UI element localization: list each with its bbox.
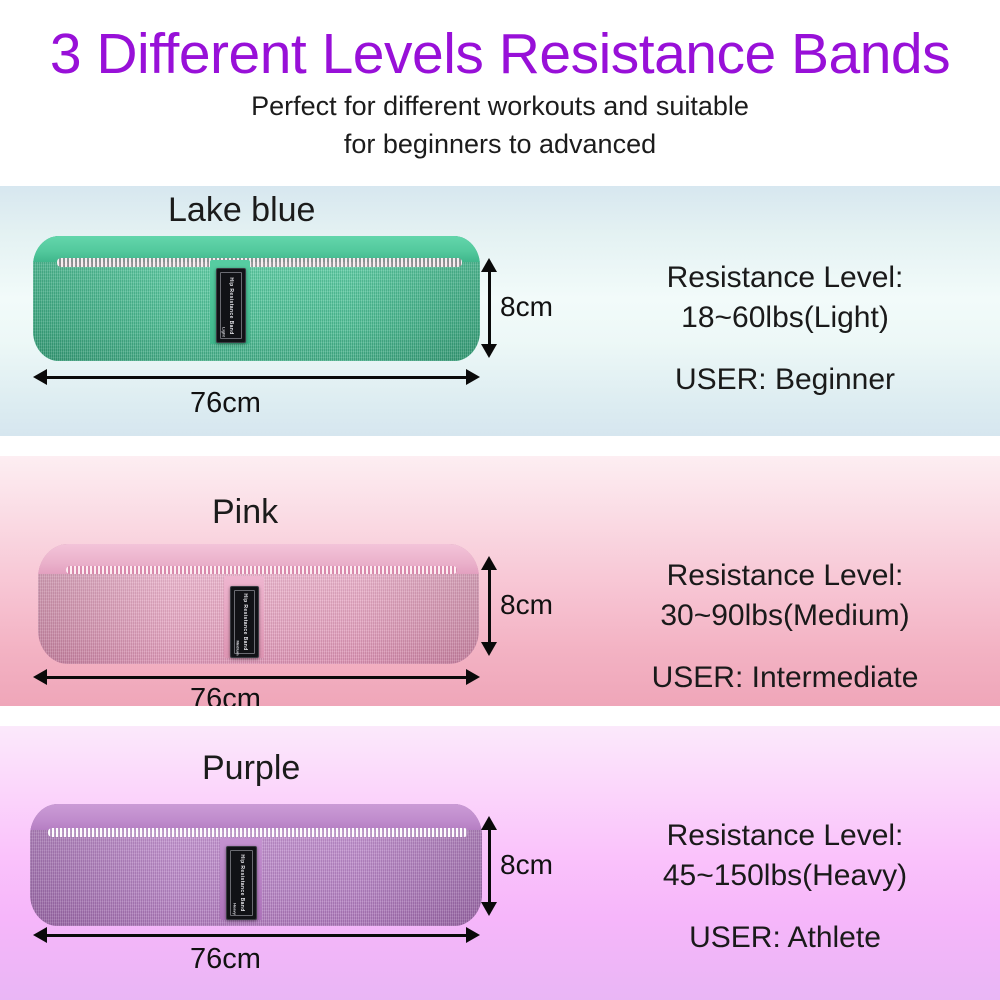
header: 3 Different Levels Resistance Bands Perf… [0,0,1000,186]
width-dimension-label-purple: 76cm [190,942,261,976]
spec-block-purple: Resistance Level: 45~150lbs(Heavy) USER:… [585,816,985,958]
band-tag-lake-blue: Hip Resistance Band Light [216,268,246,343]
band-image-purple: Hip Resistance Band Heavy [30,804,482,926]
resistance-title-lake-blue: Resistance Level: [585,258,985,298]
user-level-purple: USER: Athlete [585,918,985,958]
section-divider-2 [0,706,1000,726]
band-stitch-strip-pink [66,566,457,574]
height-dimension-arrow-lake-blue [480,258,498,358]
width-dimension-arrow-lake-blue [33,368,480,386]
spec-block-lake-blue: Resistance Level: 18~60lbs(Light) USER: … [585,258,985,400]
height-dimension-label-pink: 8cm [500,588,553,622]
resistance-title-pink: Resistance Level: [585,556,985,596]
height-dimension-arrow-purple [480,816,498,916]
band-name-purple: Purple [202,748,300,788]
band-tag-text: Hip Resistance Band [242,593,248,650]
band-tag-purple: Hip Resistance Band Heavy [226,846,257,920]
width-dimension-label-lake-blue: 76cm [190,386,261,420]
spec-block-pink: Resistance Level: 30~90lbs(Medium) USER:… [585,556,985,698]
band-stitch-strip-lake-blue [57,258,462,267]
band-section-lake-blue: Lake blue Hip Resistance Band Light 8cm … [0,186,1000,436]
band-image-lake-blue: Hip Resistance Band Light [33,236,480,361]
band-tag-level: Light [222,327,227,337]
band-tag-text: Hip Resistance Band [228,277,234,334]
band-tag-level: Medium [235,640,240,655]
subtitle-line-2: for beginners to advanced [344,126,656,162]
band-name-lake-blue: Lake blue [168,190,315,230]
section-divider-1 [0,436,1000,456]
width-dimension-label-pink: 76cm [190,682,261,706]
resistance-title-purple: Resistance Level: [585,816,985,856]
band-name-pink: Pink [212,492,278,532]
band-tag-pink: Hip Resistance Band Medium [230,586,259,658]
band-image-pink: Hip Resistance Band Medium [38,544,479,664]
user-level-pink: USER: Intermediate [585,658,985,698]
band-tag-level: Heavy [232,903,237,915]
user-level-lake-blue: USER: Beginner [585,360,985,400]
band-stitch-strip-purple [48,828,468,837]
height-dimension-label-lake-blue: 8cm [500,290,553,324]
height-dimension-label-purple: 8cm [500,848,553,882]
band-section-pink: Pink Hip Resistance Band Medium 8cm 76cm… [0,456,1000,706]
band-tag-text: Hip Resistance Band [239,854,245,911]
height-dimension-arrow-pink [480,556,498,656]
subtitle-line-1: Perfect for different workouts and suita… [251,88,749,124]
resistance-value-purple: 45~150lbs(Heavy) [585,856,985,896]
resistance-value-pink: 30~90lbs(Medium) [585,596,985,636]
resistance-value-lake-blue: 18~60lbs(Light) [585,298,985,338]
page-title: 3 Different Levels Resistance Bands [50,22,950,86]
band-section-purple: Purple Hip Resistance Band Heavy 8cm 76c… [0,726,1000,1000]
